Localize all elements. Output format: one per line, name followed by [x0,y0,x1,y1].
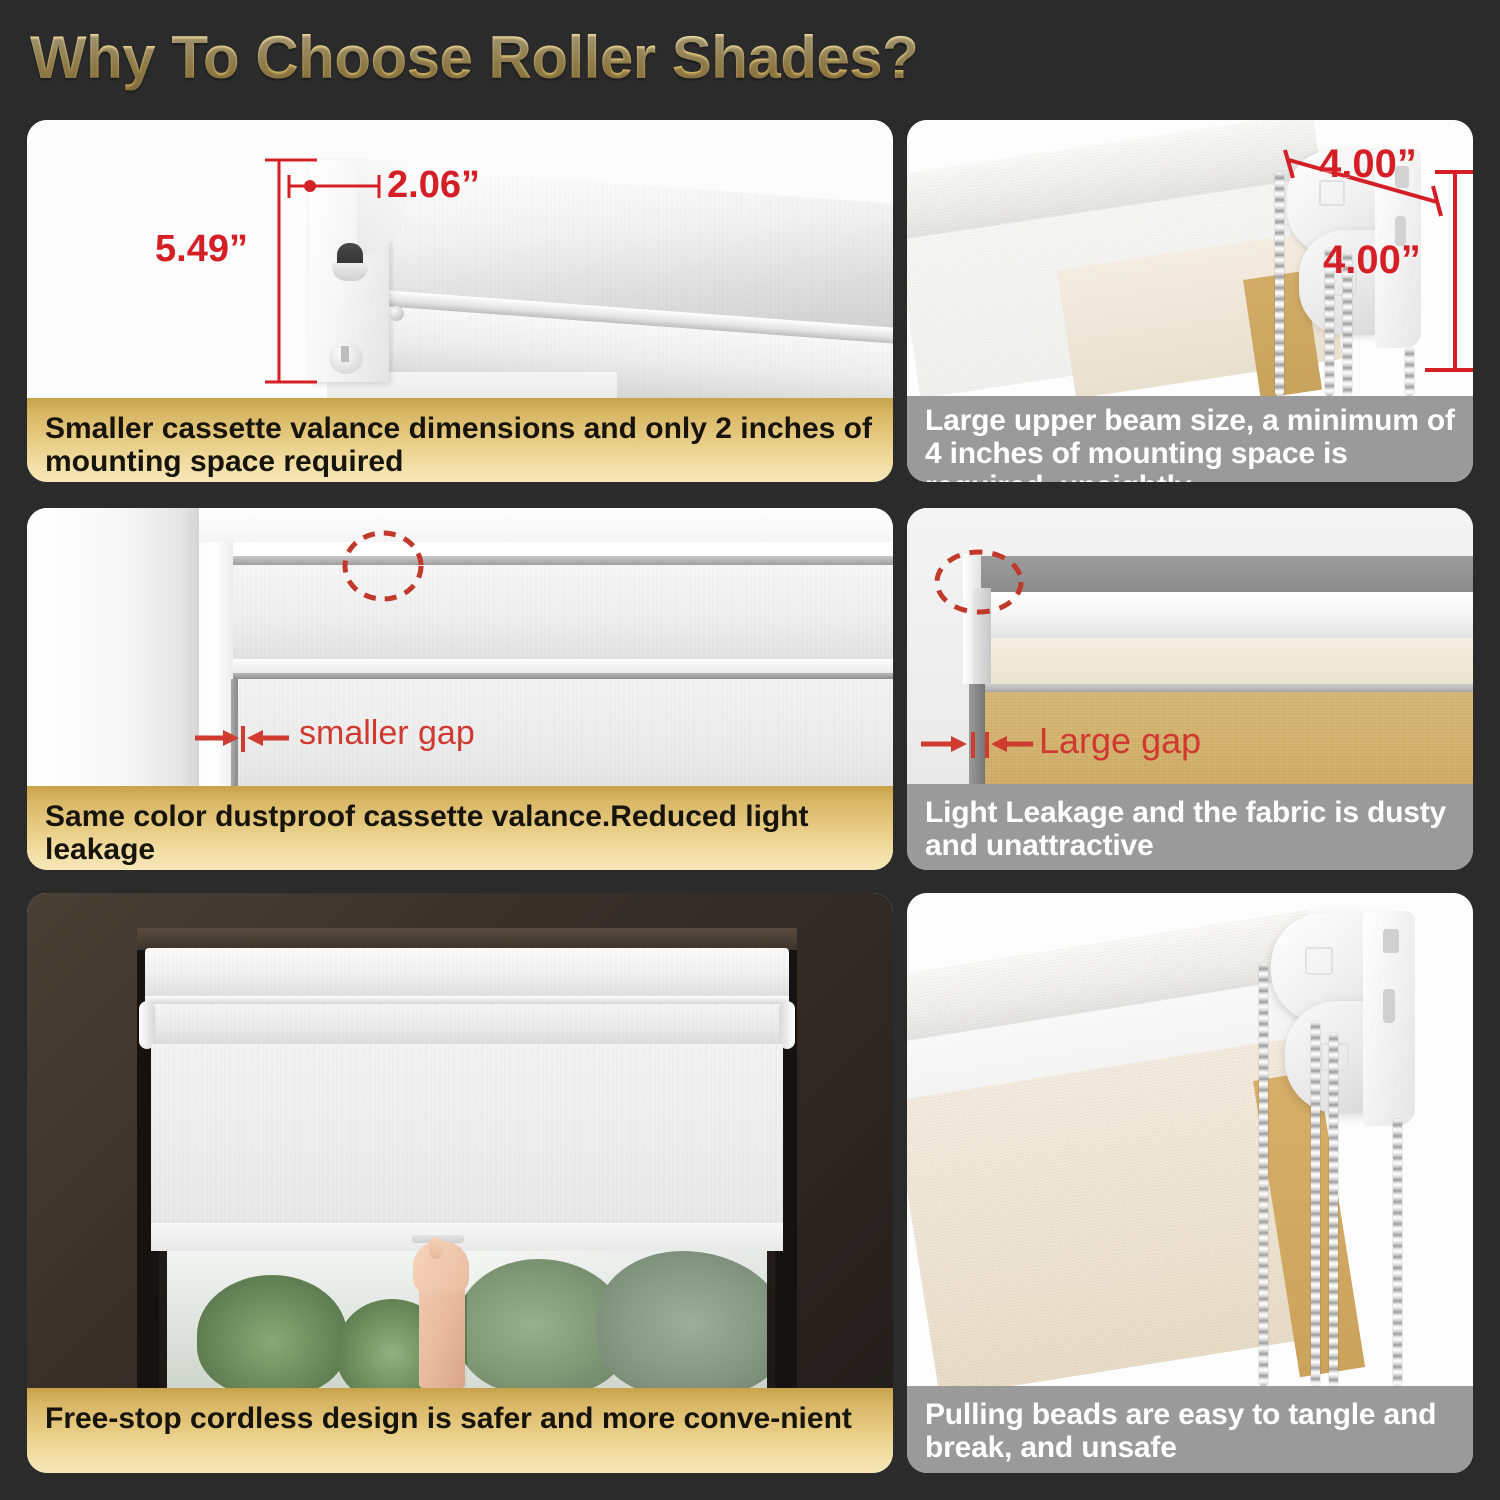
panel-4-caption: Light Leakage and the fabric is dusty an… [907,784,1473,870]
glass-reflection [467,1251,767,1388]
window-recess-head [137,928,797,950]
large-gap-strip [969,684,985,784]
panel-cassette-dimensions: 2.06” 5.49” Smaller cassette valance dim… [27,120,893,482]
panel-5-caption-text: Free-stop cordless design is safer and m… [45,1402,852,1435]
beam-top-shadow [977,556,1473,592]
beam-height-dimension-label: 4.00” [1323,238,1421,283]
roll-end-cap-right [779,1001,795,1049]
roll-end-cap-left [139,1001,155,1049]
shade-main-texture [151,1044,783,1239]
end-cap-screw-slot [341,346,349,362]
bracket-slot-4 [1383,989,1395,1023]
panel-5-caption: Free-stop cordless design is safer and m… [27,1388,893,1473]
panel-2-caption: Large upper beam size, a minimum of 4 in… [907,396,1473,482]
smaller-gap-strip [231,679,238,786]
panel-3-caption-text: Same color dustproof cassette valance.Re… [45,800,809,866]
shade-valance-lip [145,996,789,1004]
bead-chain-b [1311,1021,1320,1386]
panel-4-caption-text: Light Leakage and the fabric is dusty an… [925,796,1446,862]
panel-3-caption: Same color dustproof cassette valance.Re… [27,786,893,870]
beam-edge-shadow [977,684,1473,692]
panel-1-photo: 2.06” 5.49” [27,120,893,398]
beam-width-dimension-label: 4.00” [1319,142,1417,187]
panel-1-caption: Smaller cassette valance dimensions and … [27,398,893,482]
shade-valance-texture [145,948,789,996]
panel-smaller-gap: smaller gap Same color dustproof cassett… [27,508,893,870]
panel-1-caption-text: Smaller cassette valance dimensions and … [45,412,872,478]
shade-roll-texture [147,1004,787,1044]
panel-cordless-design: Free-stop cordless design is safer and m… [27,893,893,1473]
window-frame-head [199,508,893,542]
beam-lower-cream [977,638,1473,684]
panel-4-photo: Large gap [907,508,1473,784]
cassette-valance-texture [233,565,893,659]
bead-chain-1 [1275,172,1284,396]
tree-left [197,1275,347,1388]
shade-bottom-rail [151,1223,783,1251]
valance-lip [233,659,893,673]
large-gap-label: Large gap [1039,720,1201,762]
bracket-emboss-3 [1305,947,1333,975]
panel-large-gap: Large gap Light Leakage and the fabric i… [907,508,1473,870]
window-frame-inner [199,508,233,786]
panel-6-photo [907,893,1473,1386]
hand-finger [429,1237,443,1259]
panel-2-photo: 4.00” 4.00” [907,120,1473,396]
end-cap-screw-upper [389,306,404,321]
bracket-slot-3 [1383,929,1399,953]
page-title: Why To Choose Roller Shades? [30,18,1030,98]
panel-pulling-beads: Pulling beads are easy to tangle and bre… [907,893,1473,1473]
smaller-gap-label: smaller gap [299,714,475,753]
bracket-clip [973,588,991,684]
bead-chain-4 [1405,348,1414,396]
panel-3-photo: smaller gap [27,508,893,786]
width-dimension-label: 2.06” [387,164,480,207]
bead-chain-a [1259,963,1268,1386]
height-dimension-label: 5.49” [155,228,248,271]
panel-6-caption-text: Pulling beads are easy to tangle and bre… [925,1398,1436,1464]
panel-2-caption-text: Large upper beam size, a minimum of 4 in… [925,404,1455,482]
bead-chain-c [1329,1033,1338,1386]
panel-upper-beam-dimensions: 4.00” 4.00” Large upper beam size, a min… [907,120,1473,482]
valance-top-edge [233,556,893,565]
panel-6-caption: Pulling beads are easy to tangle and bre… [907,1386,1473,1473]
panel-5-photo [27,893,893,1388]
beam-face [977,592,1473,638]
window-frame-left [27,508,199,786]
bead-chain-d [1393,1119,1402,1386]
